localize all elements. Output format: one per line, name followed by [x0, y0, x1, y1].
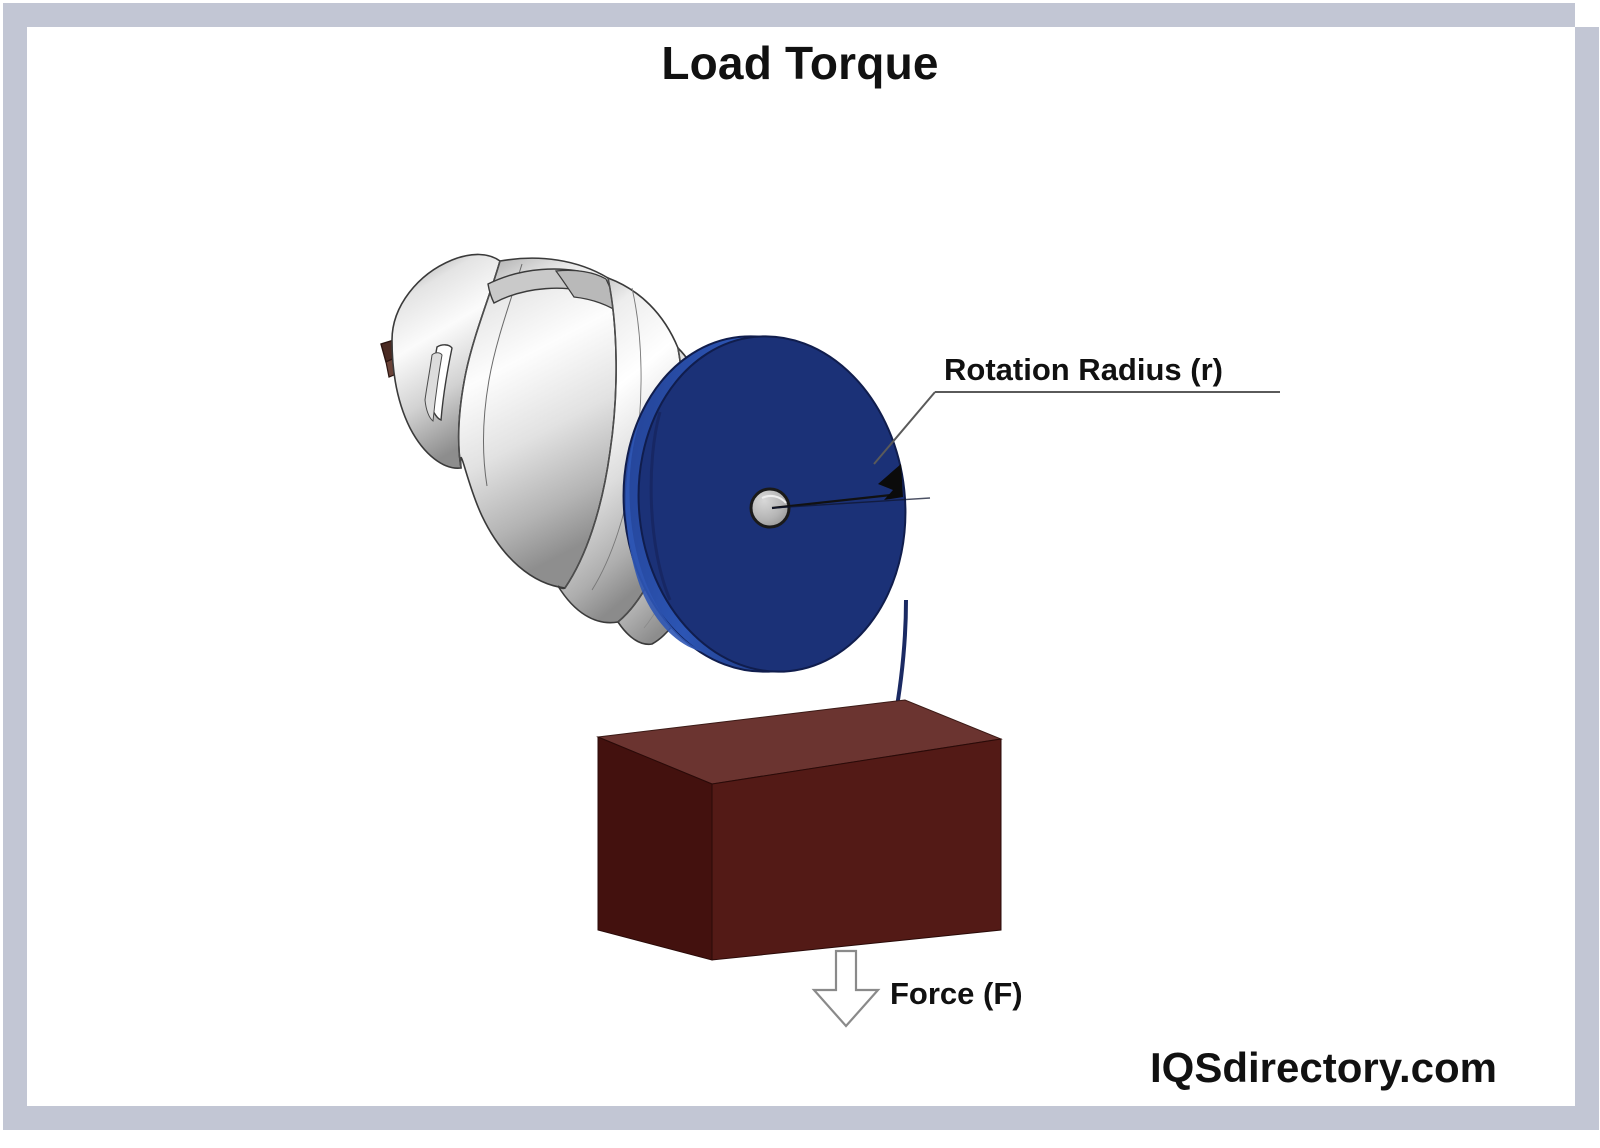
force-arrow [814, 951, 878, 1026]
watermark: IQSdirectory.com [1150, 1044, 1497, 1092]
rotation-radius-label: Rotation Radius (r) [944, 352, 1223, 388]
diagram-artwork [0, 0, 1600, 1148]
figure-canvas: Load Torque [0, 0, 1600, 1148]
shaft-hub [751, 489, 789, 527]
force-label: Force (F) [890, 976, 1023, 1012]
rotation-radius-leader [874, 392, 1280, 464]
force-arrow-shape [814, 951, 878, 1026]
load-block [598, 700, 1001, 960]
